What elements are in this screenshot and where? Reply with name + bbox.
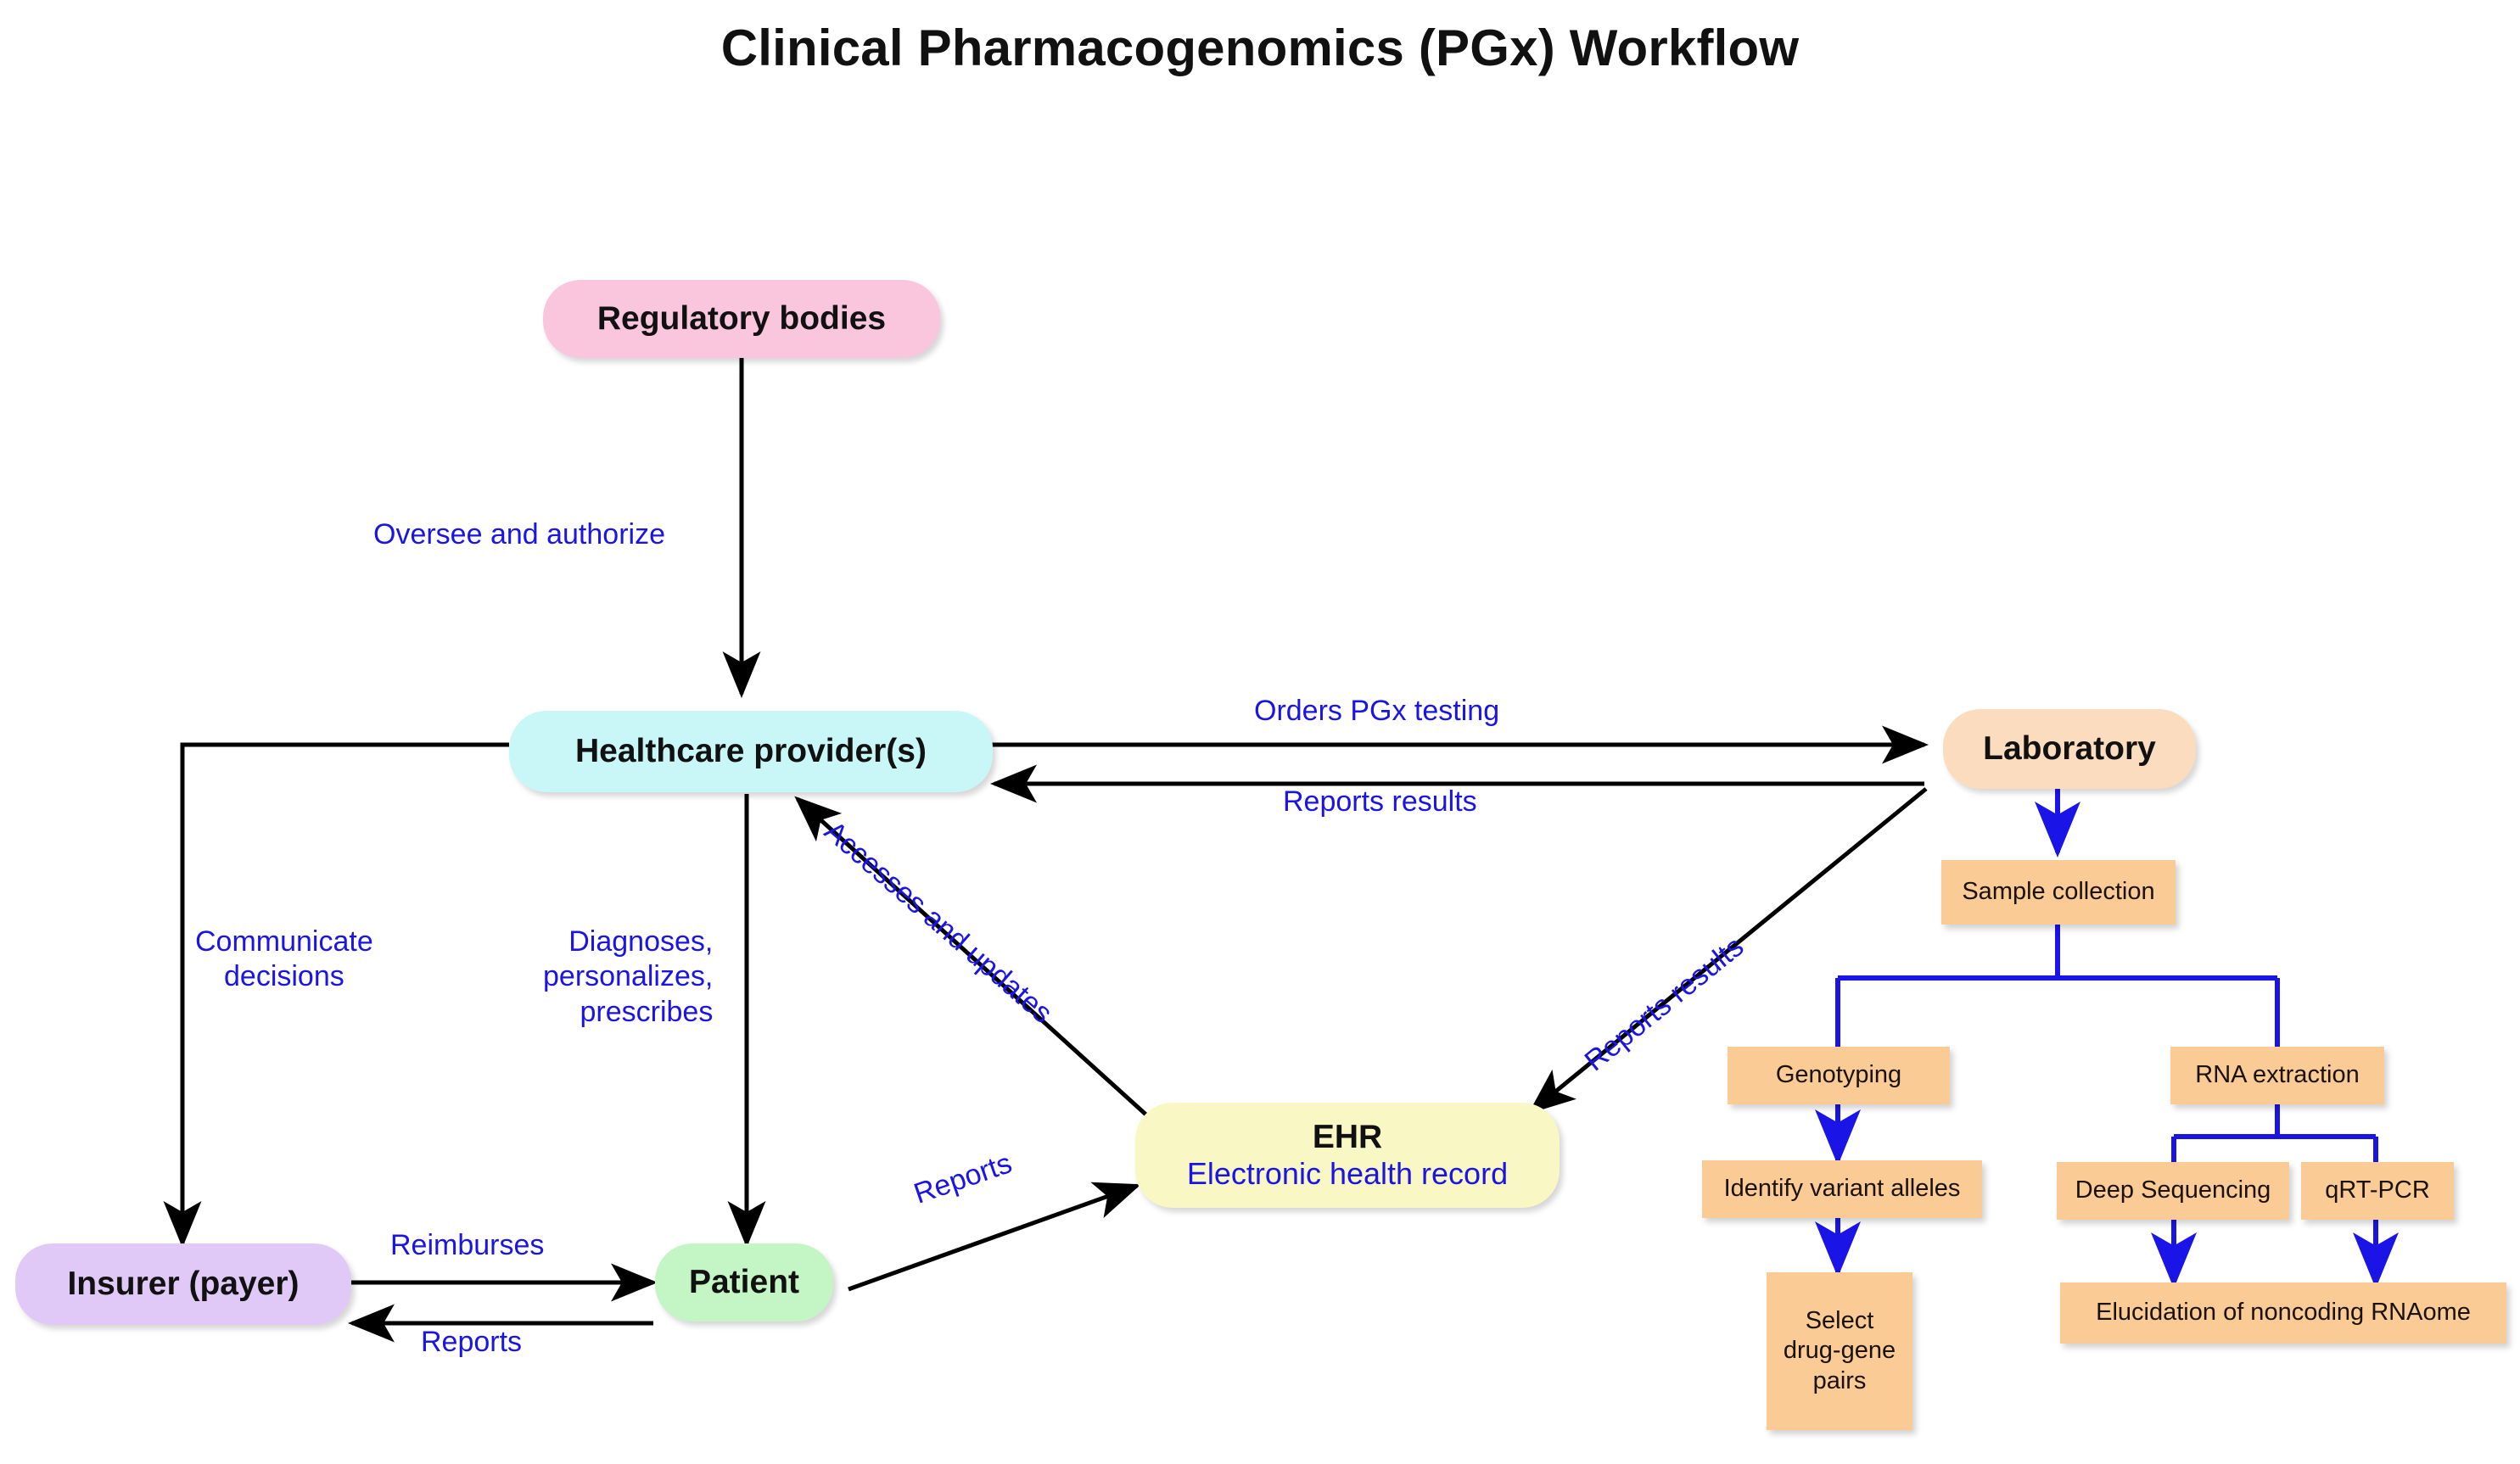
node-healthcare-provider[interactable]: Healthcare provider(s): [509, 711, 993, 792]
edge-label-reimburses: Reimburses: [390, 1228, 544, 1263]
node-label: Patient: [689, 1266, 799, 1300]
node-sublabel: Electronic health record: [1187, 1157, 1508, 1191]
node-patient[interactable]: Patient: [655, 1243, 833, 1322]
box-elucidation-noncoding-rnaome[interactable]: Elucidation of noncoding RNAome: [2060, 1282, 2506, 1344]
node-ehr[interactable]: EHR Electronic health record: [1135, 1103, 1560, 1208]
box-label: Genotyping: [1776, 1060, 1901, 1090]
diagram-canvas: Clinical Pharmacogenomics (PGx) Workflow: [0, 0, 2520, 1464]
node-laboratory[interactable]: Laboratory: [1943, 709, 2196, 789]
edge-patient-to-ehr: [848, 1186, 1137, 1289]
edge-label-communicate-decisions: Communicate decisions: [195, 925, 373, 995]
edge-label-reports-patient-to-insurer: Reports: [421, 1325, 522, 1360]
box-qrt-pcr[interactable]: qRT-PCR: [2301, 1162, 2454, 1220]
box-label: qRT-PCR: [2325, 1176, 2430, 1205]
box-rna-extraction[interactable]: RNA extraction: [2170, 1047, 2384, 1104]
black-edges: [182, 358, 1926, 1323]
node-label: Laboratory: [1983, 732, 2156, 767]
node-label: Regulatory bodies: [597, 302, 886, 337]
box-select-drug-gene-pairs[interactable]: Select drug-gene pairs: [1767, 1272, 1912, 1430]
node-label: Healthcare provider(s): [575, 735, 927, 769]
box-label: Elucidation of noncoding RNAome: [2096, 1298, 2471, 1327]
edge-label-orders-pgx-testing: Orders PGx testing: [1254, 694, 1499, 729]
box-sample-collection[interactable]: Sample collection: [1941, 860, 2176, 925]
edge-label-diagnoses-personalizes-prescribes: Diagnoses, personalizes, prescribes: [543, 925, 713, 1030]
box-label: Select drug-gene pairs: [1784, 1306, 1896, 1396]
edge-label-reports-results-to-provider: Reports results: [1283, 785, 1477, 819]
box-label: RNA extraction: [2195, 1060, 2359, 1090]
box-deep-sequencing[interactable]: Deep Sequencing: [2057, 1162, 2289, 1220]
node-label: Insurer (payer): [67, 1267, 299, 1302]
box-label: Identify variant alleles: [1724, 1174, 1961, 1204]
box-genotyping[interactable]: Genotyping: [1728, 1047, 1950, 1104]
node-label: EHR: [1313, 1120, 1382, 1155]
box-label: Sample collection: [1962, 877, 2154, 907]
box-label: Deep Sequencing: [2075, 1176, 2271, 1205]
edge-label-oversee-and-authorize: Oversee and authorize: [373, 517, 665, 552]
box-identify-variant-alleles[interactable]: Identify variant alleles: [1702, 1160, 1982, 1218]
node-regulatory-bodies[interactable]: Regulatory bodies: [543, 280, 940, 358]
node-insurer[interactable]: Insurer (payer): [15, 1243, 351, 1325]
